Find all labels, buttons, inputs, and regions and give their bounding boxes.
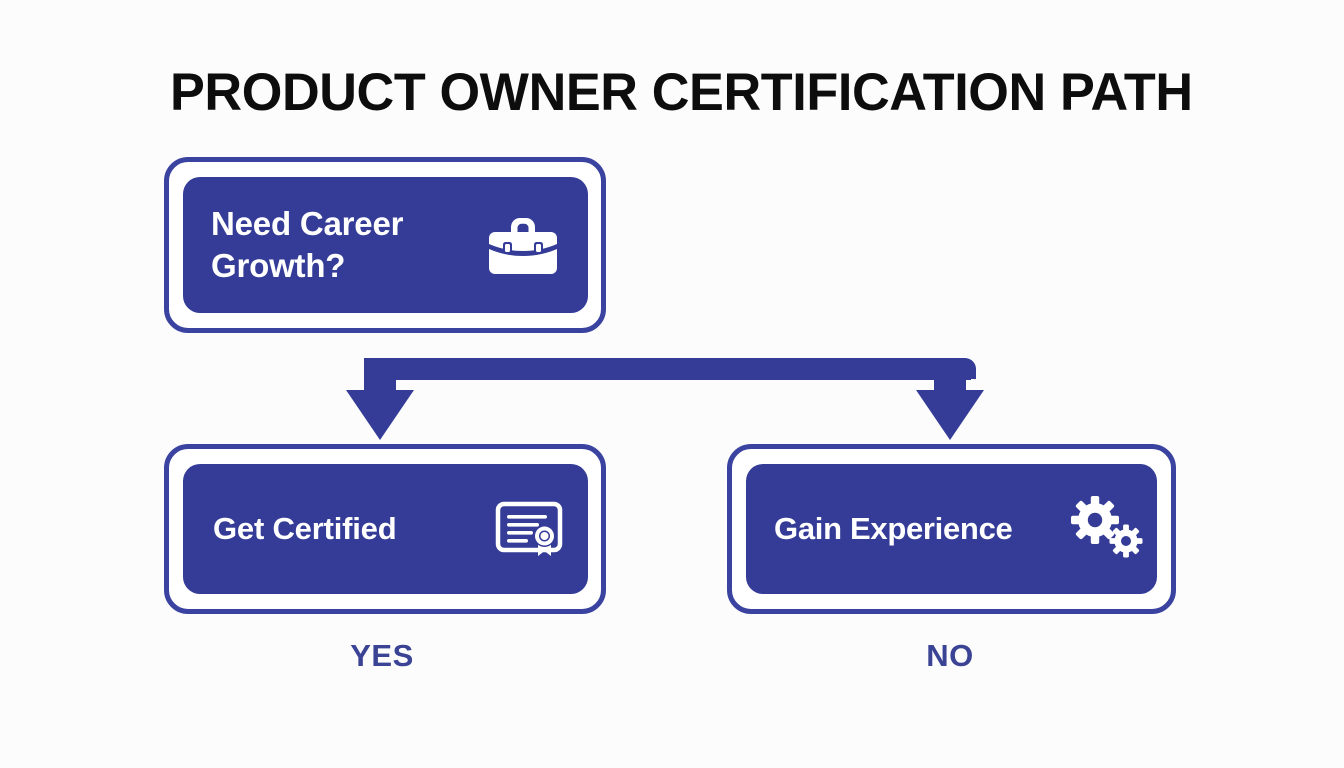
certified-node-label: Get Certified (213, 510, 396, 548)
gears-icon (1069, 496, 1145, 562)
diagram-canvas: PRODUCT OWNER CERTIFICATION PATH Need Ca… (0, 0, 1344, 768)
certificate-icon (494, 498, 564, 560)
certified-node[interactable]: Get Certified (183, 464, 588, 594)
connector-right-arrowhead (916, 390, 984, 440)
branch-label-no: NO (850, 637, 1050, 675)
connector-crossbar (364, 358, 976, 379)
branch-label-yes: YES (282, 637, 482, 675)
experience-node-label: Gain Experience (774, 510, 1012, 548)
briefcase-icon (484, 211, 562, 279)
branch-connector (330, 348, 1010, 448)
page-title: PRODUCT OWNER CERTIFICATION PATH (170, 62, 1194, 124)
decision-node[interactable]: Need Career Growth? (183, 177, 588, 313)
connector-left-arrowhead (346, 390, 414, 440)
experience-node[interactable]: Gain Experience (746, 464, 1157, 594)
decision-node-label: Need Career Growth? (211, 203, 403, 287)
